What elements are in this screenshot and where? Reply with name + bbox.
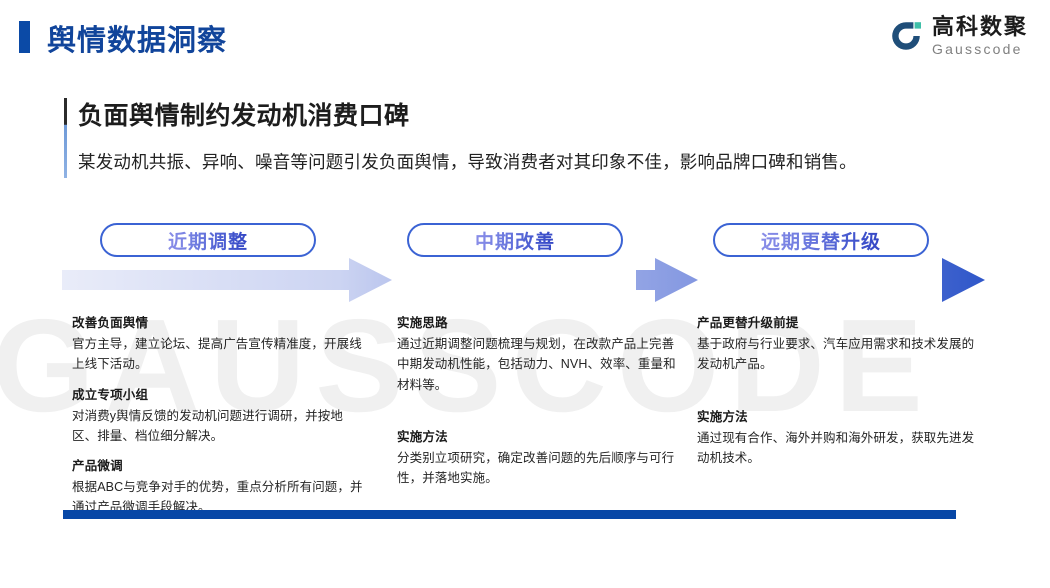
block-spacer (397, 404, 679, 426)
content-block-title: 实施方法 (397, 426, 679, 445)
content-block-body: 分类别立项研究，确定改善问题的先后顺序与可行性，并落地实施。 (397, 448, 679, 489)
content-block-body: 通过现有合作、海外并购和海外研发，获取先进发动机技术。 (697, 428, 979, 469)
timeline-pill-label: 近期调整 (168, 227, 248, 254)
intro-accent-rule (64, 98, 67, 178)
timeline-pill-label: 远期更替升级 (761, 227, 881, 254)
content-block-body: 官方主导，建立论坛、提高广告宣传精准度，开展线上线下活动。 (72, 334, 364, 375)
timeline-pill-mid-term[interactable]: 中期改善 (407, 223, 623, 257)
content-block: 成立专项小组对消费y舆情反馈的发动机问题进行调研，并按地区、排量、档位细分解决。 (72, 384, 364, 447)
content-block-title: 改善负面舆情 (72, 312, 364, 331)
right-arrow-progress-icon (0, 255, 1050, 305)
gausscode-g-icon (889, 19, 923, 53)
content-block-body: 基于政府与行业要求、汽车应用需求和技术发展的发动机产品。 (697, 334, 979, 375)
intro-block: 负面舆情制约发动机消费口碑 某发动机共振、异响、噪音等问题引发负面舆情，导致消费… (64, 96, 964, 174)
header-accent-mark-icon (19, 21, 30, 53)
content-block-title: 产品微调 (72, 455, 364, 474)
content-block-title: 产品更替升级前提 (697, 312, 979, 331)
timeline-pill-long-term[interactable]: 远期更替升级 (713, 223, 929, 257)
logo-cn-text: 高科数聚 (932, 17, 1028, 39)
page-title: 舆情数据洞察 (47, 17, 227, 59)
content-block: 产品更替升级前提基于政府与行业要求、汽车应用需求和技术发展的发动机产品。 (697, 312, 979, 375)
column-mid-term: 实施思路通过近期调整问题梳理与规划，在改款产品上完善中期发动机性能，包括动力、N… (397, 312, 679, 497)
timeline-pill-label: 中期改善 (475, 227, 555, 254)
content-block-body: 对消费y舆情反馈的发动机问题进行调研，并按地区、排量、档位细分解决。 (72, 406, 364, 447)
content-block: 实施方法分类别立项研究，确定改善问题的先后顺序与可行性，并落地实施。 (397, 426, 679, 489)
content-block-title: 实施方法 (697, 406, 979, 425)
content-block-body: 通过近期调整问题梳理与规划，在改款产品上完善中期发动机性能，包括动力、NVH、效… (397, 334, 679, 395)
content-block: 产品微调根据ABC与竞争对手的优势，重点分析所有问题，并通过产品微调手段解决。 (72, 455, 364, 518)
footer-rule (63, 510, 956, 519)
brand-logo: 高科数聚 Gausscode (889, 12, 1028, 60)
column-long-term: 产品更替升级前提基于政府与行业要求、汽车应用需求和技术发展的发动机产品。实施方法… (697, 312, 979, 477)
timeline-pill-near-term[interactable]: 近期调整 (100, 223, 316, 257)
slide-root: GAUSSCODE 舆情数据洞察 高科数聚 Gausscode 负面舆情制约发动… (0, 0, 1050, 588)
content-block: 实施方法通过现有合作、海外并购和海外研发，获取先进发动机技术。 (697, 406, 979, 469)
content-block-title: 成立专项小组 (72, 384, 364, 403)
content-block: 实施思路通过近期调整问题梳理与规划，在改款产品上完善中期发动机性能，包括动力、N… (397, 312, 679, 395)
content-block: 改善负面舆情官方主导，建立论坛、提高广告宣传精准度，开展线上线下活动。 (72, 312, 364, 375)
timeline-arrow (0, 255, 1050, 305)
logo-en-text: Gausscode (932, 42, 1028, 56)
intro-heading: 负面舆情制约发动机消费口碑 (78, 96, 964, 132)
intro-paragraph: 某发动机共振、异响、噪音等问题引发负面舆情，导致消费者对其印象不佳，影响品牌口碑… (78, 149, 964, 174)
column-near-term: 改善负面舆情官方主导，建立论坛、提高广告宣传精准度，开展线上线下活动。成立专项小… (72, 312, 364, 527)
content-block-title: 实施思路 (397, 312, 679, 331)
block-spacer (697, 384, 979, 406)
